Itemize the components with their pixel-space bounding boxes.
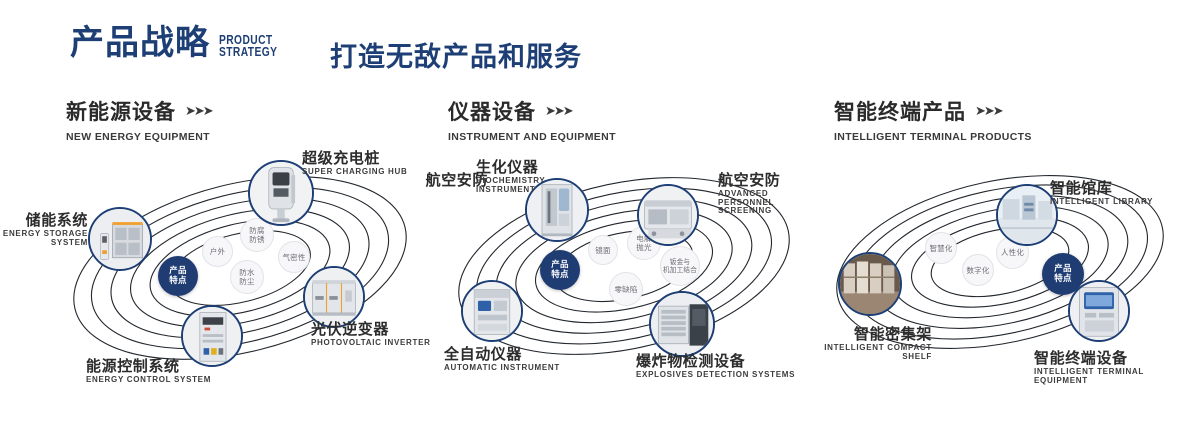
orbit-diagram-new-energy: 产品 特点 户外 防腐 防锈 防水 防尘 气密性: [40, 150, 440, 400]
core-bubble-line2: 特点: [169, 276, 186, 286]
label-cn: 超级充电桩: [302, 150, 408, 166]
section-title-en: INSTRUMENT AND EQUIPMENT: [448, 131, 616, 143]
label-energy-storage-system: 储能系统 ENERGY STORAGE SYSTEM: [0, 212, 88, 247]
label-automatic-instrument: 全自动仪器 AUTOMATIC INSTRUMENT: [444, 346, 560, 373]
label-cn: 智能密集架: [800, 326, 932, 342]
bubble-line1: 零缺陷: [614, 285, 637, 294]
label-en: INTELLIGENT COMPACT SHELF: [800, 344, 932, 361]
page-title-en-line2: STRATEGY: [219, 46, 277, 58]
page-subtitle: 打造无敌产品和服务: [330, 35, 582, 74]
label-en: INTELLIGENT LIBRARY: [1050, 198, 1153, 207]
label-en: EXPLOSIVES DETECTION SYSTEMS: [636, 371, 795, 380]
node-explosives-detection-systems[interactable]: [649, 291, 715, 357]
label-en: ADVANCED PERSONNEL SCREENING: [718, 190, 810, 216]
label-super-charging-hub: 超级充电桩 SUPER CHARGING HUB: [302, 150, 408, 177]
section-heading-new-energy: 新能源设备 ➤➤➤ NEW ENERGY EQUIPMENT: [66, 96, 212, 143]
bubble-line1: 防腐: [249, 226, 264, 235]
label-en: PHOTOVOLTAIC INVERTER: [311, 339, 431, 348]
feature-bubble-digital: 数字化: [962, 254, 994, 286]
label-cn: 光伏逆变器: [311, 321, 431, 337]
bubble-line1: 数字化: [966, 266, 989, 275]
page-title: 产品战略 PRODUCT STRATEGY: [70, 26, 290, 60]
bubble-line1: 镜面: [595, 246, 610, 255]
section-title-en: INTELLIGENT TERMINAL PRODUCTS: [834, 131, 1032, 143]
page-title-cn: 产品战略: [70, 26, 210, 60]
core-bubble-product-features: 产品 特点: [158, 256, 198, 296]
node-intelligent-compact-shelf[interactable]: [838, 252, 902, 316]
poster-canvas: 产品战略 PRODUCT STRATEGY 打造无敌产品和服务 新能源设备 ➤➤…: [0, 0, 1200, 422]
orbit-diagram-instrument: 产品 特点 镜面 电解 抛光 钣金与 机加工结合 零缺陷: [428, 150, 828, 400]
label-cn: 智能馆库: [1050, 180, 1153, 196]
inverter-photo: [305, 268, 363, 326]
chevron-right-icon: ➤➤➤: [185, 103, 212, 119]
label-en: BIOCHEMISTRY INSTRUMENT: [476, 177, 562, 194]
section-title-en: NEW ENERGY EQUIPMENT: [66, 131, 212, 143]
bubble-line2: 机加工结合: [663, 266, 697, 274]
label-cn: 航空安防: [718, 172, 810, 188]
feature-bubble-smart: 智慧化: [925, 232, 957, 264]
label-cn: 爆炸物检测设备: [636, 353, 795, 369]
bubble-line1: 防水: [239, 268, 254, 277]
label-en: INTELLIGENT TERMINAL EQUIPMENT: [1034, 368, 1200, 385]
label-cn: 生化仪器: [476, 159, 562, 175]
label-explosives-detection-systems: 爆炸物检测设备 EXPLOSIVES DETECTION SYSTEMS: [636, 353, 795, 380]
label-advanced-personnel-screening: 航空安防 ADVANCED PERSONNEL SCREENING: [718, 172, 810, 216]
section-heading-instrument: 仪器设备 ➤➤➤ INSTRUMENT AND EQUIPMENT: [448, 96, 616, 143]
control-system-photo: [183, 307, 241, 365]
label-cn: 能源控制系统: [86, 358, 211, 374]
page-title-en: PRODUCT STRATEGY: [219, 34, 277, 58]
bubble-line1: 人性化: [1001, 248, 1024, 257]
orbit-diagram-intelligent-terminal: 智慧化 数字化 人性化 产品 特点: [810, 150, 1200, 400]
label-cn: 储能系统: [0, 212, 88, 228]
label-intelligent-library: 智能馆库 INTELLIGENT LIBRARY: [1050, 180, 1153, 207]
bubble-line1: 气密性: [282, 253, 305, 262]
core-bubble-line2: 特点: [551, 270, 568, 280]
feature-bubble-mirror-finish: 镜面: [588, 235, 618, 265]
bubble-line2: 防尘: [239, 277, 254, 286]
node-intelligent-terminal-equipment[interactable]: [1068, 280, 1130, 342]
label-cn: 智能终端设备: [1034, 350, 1200, 366]
node-automatic-instrument[interactable]: [461, 280, 523, 342]
label-aviation-security-left: 航空安防: [398, 172, 488, 188]
library-photo: [998, 186, 1056, 244]
label-en: ENERGY STORAGE SYSTEM: [0, 230, 88, 247]
feature-bubble-zero-defect: 零缺陷: [609, 272, 643, 306]
feature-bubble-waterproof: 防水 防尘: [230, 260, 264, 294]
label-en: ENERGY CONTROL SYSTEM: [86, 376, 211, 385]
core-bubble-line1: 产品: [551, 260, 568, 270]
node-photovoltaic-inverter[interactable]: [303, 266, 365, 328]
label-cn: 航空安防: [398, 172, 488, 188]
section-title-cn: 智能终端产品: [834, 96, 966, 126]
bubble-line2: 抛光: [636, 243, 651, 252]
automatic-instrument-photo: [463, 282, 521, 340]
label-photovoltaic-inverter: 光伏逆变器 PHOTOVOLTAIC INVERTER: [311, 321, 431, 348]
screening-photo: [639, 186, 697, 244]
label-en: SUPER CHARGING HUB: [302, 168, 408, 177]
chevron-right-icon: ➤➤➤: [545, 103, 572, 119]
node-advanced-personnel-screening[interactable]: [637, 184, 699, 246]
section-title-cn: 新能源设备: [66, 96, 176, 126]
core-bubble-line1: 产品: [1054, 264, 1071, 274]
label-cn: 全自动仪器: [444, 346, 560, 362]
section-heading-intelligent-terminal: 智能终端产品 ➤➤➤ INTELLIGENT TERMINAL PRODUCTS: [834, 96, 1032, 143]
node-intelligent-library[interactable]: [996, 184, 1058, 246]
label-intelligent-terminal-equipment: 智能终端设备 INTELLIGENT TERMINAL EQUIPMENT: [1034, 350, 1200, 385]
chevron-right-icon: ➤➤➤: [975, 103, 1002, 119]
node-energy-storage-system[interactable]: [88, 207, 152, 271]
bubble-line1: 户外: [210, 247, 225, 256]
section-title-cn: 仪器设备: [448, 96, 536, 126]
bubble-line1: 钣金与: [663, 258, 697, 266]
bubble-line1: 智慧化: [929, 244, 952, 253]
core-bubble-line1: 产品: [169, 266, 186, 276]
bubble-line2: 防锈: [249, 235, 264, 244]
feature-bubble-sheetmetal-machining: 钣金与 机加工结合: [660, 246, 700, 286]
label-intelligent-compact-shelf: 智能密集架 INTELLIGENT COMPACT SHELF: [800, 326, 932, 361]
core-bubble-product-features: 产品 特点: [540, 250, 580, 290]
feature-bubble-outdoor: 户外: [202, 236, 233, 267]
label-biochemistry-instrument: 生化仪器 BIOCHEMISTRY INSTRUMENT: [476, 159, 562, 194]
compact-shelf-photo: [840, 254, 900, 314]
energy-storage-photo: [90, 209, 150, 269]
terminal-equipment-photo: [1070, 282, 1128, 340]
explosives-detection-photo: [651, 293, 713, 355]
label-energy-control-system: 能源控制系统 ENERGY CONTROL SYSTEM: [86, 358, 211, 385]
label-en: AUTOMATIC INSTRUMENT: [444, 364, 560, 373]
